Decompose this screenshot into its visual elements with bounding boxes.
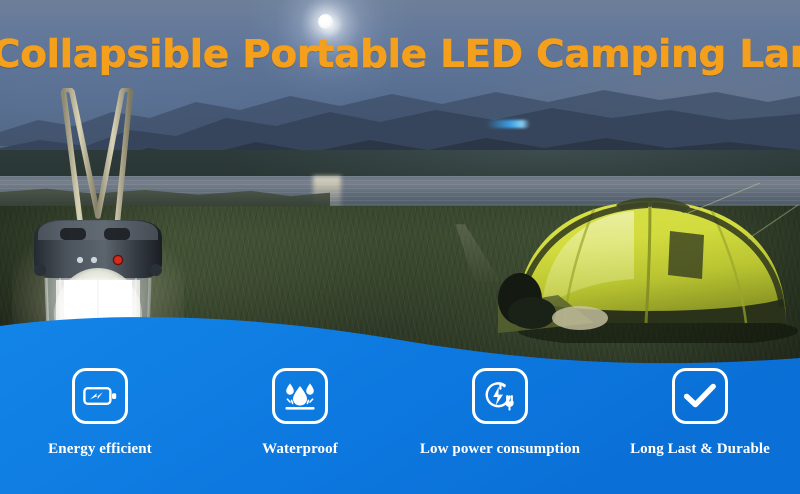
battery-bolt-icon xyxy=(72,368,128,424)
product-banner: Collapsible Portable LED Camping Lantern xyxy=(0,0,800,494)
water-drops-icon xyxy=(272,368,328,424)
feature-label: Energy efficient xyxy=(48,441,152,458)
feature-energy-efficient[interactable]: Energy efficient xyxy=(0,368,200,458)
feature-long-last-durable[interactable]: Long Last & Durable xyxy=(600,368,800,458)
feature-label: Long Last & Durable xyxy=(630,441,770,458)
feature-label: Waterproof xyxy=(262,441,338,458)
feature-low-power[interactable]: Low power consumption xyxy=(400,368,600,458)
feature-waterproof[interactable]: Waterproof xyxy=(200,368,400,458)
moon-icon xyxy=(318,14,333,29)
power-plug-bolt-icon xyxy=(472,368,528,424)
feature-list: Energy efficient Waterproof xyxy=(0,368,800,488)
banner-title: Collapsible Portable LED Camping Lantern xyxy=(0,33,800,75)
feature-label: Low power consumption xyxy=(420,441,580,458)
light-streak xyxy=(486,120,530,128)
checkmark-icon xyxy=(672,368,728,424)
